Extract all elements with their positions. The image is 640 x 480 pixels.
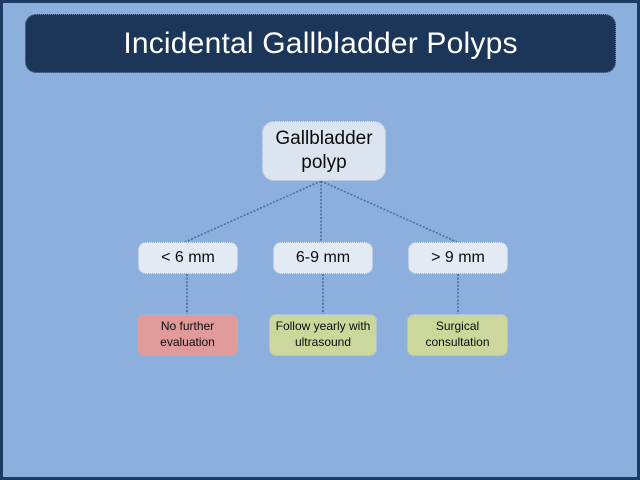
node-size-6-to-9mm: 6-9 mm <box>273 242 373 274</box>
slide-title: Incidental Gallbladder Polyps <box>123 27 517 61</box>
node-action-surgical-consultation: Surgical consultation <box>407 314 508 356</box>
node-size-small-label: < 6 mm <box>161 249 215 267</box>
node-size-less-than-6mm: < 6 mm <box>138 242 238 274</box>
flowchart-connectors <box>3 3 637 477</box>
node-action-small-label: No further evaluation <box>160 319 215 350</box>
node-action-follow-yearly-ultrasound: Follow yearly with ultrasound <box>269 314 377 356</box>
edge-root-to-small <box>185 181 321 242</box>
node-size-large-label: > 9 mm <box>431 249 485 267</box>
node-action-medium-label: Follow yearly with ultrasound <box>276 319 371 350</box>
node-action-no-further-evaluation: No further evaluation <box>137 314 238 356</box>
node-root-label: Gallbladder polyp <box>275 127 372 175</box>
slide-title-banner: Incidental Gallbladder Polyps <box>25 14 616 73</box>
node-gallbladder-polyp: Gallbladder polyp <box>262 121 386 181</box>
slide-canvas: Incidental Gallbladder Polyps Gallbladde… <box>0 0 640 480</box>
edge-root-to-large <box>321 181 457 242</box>
node-action-large-label: Surgical consultation <box>425 319 489 350</box>
node-size-medium-label: 6-9 mm <box>296 249 350 267</box>
node-size-greater-than-9mm: > 9 mm <box>408 242 508 274</box>
